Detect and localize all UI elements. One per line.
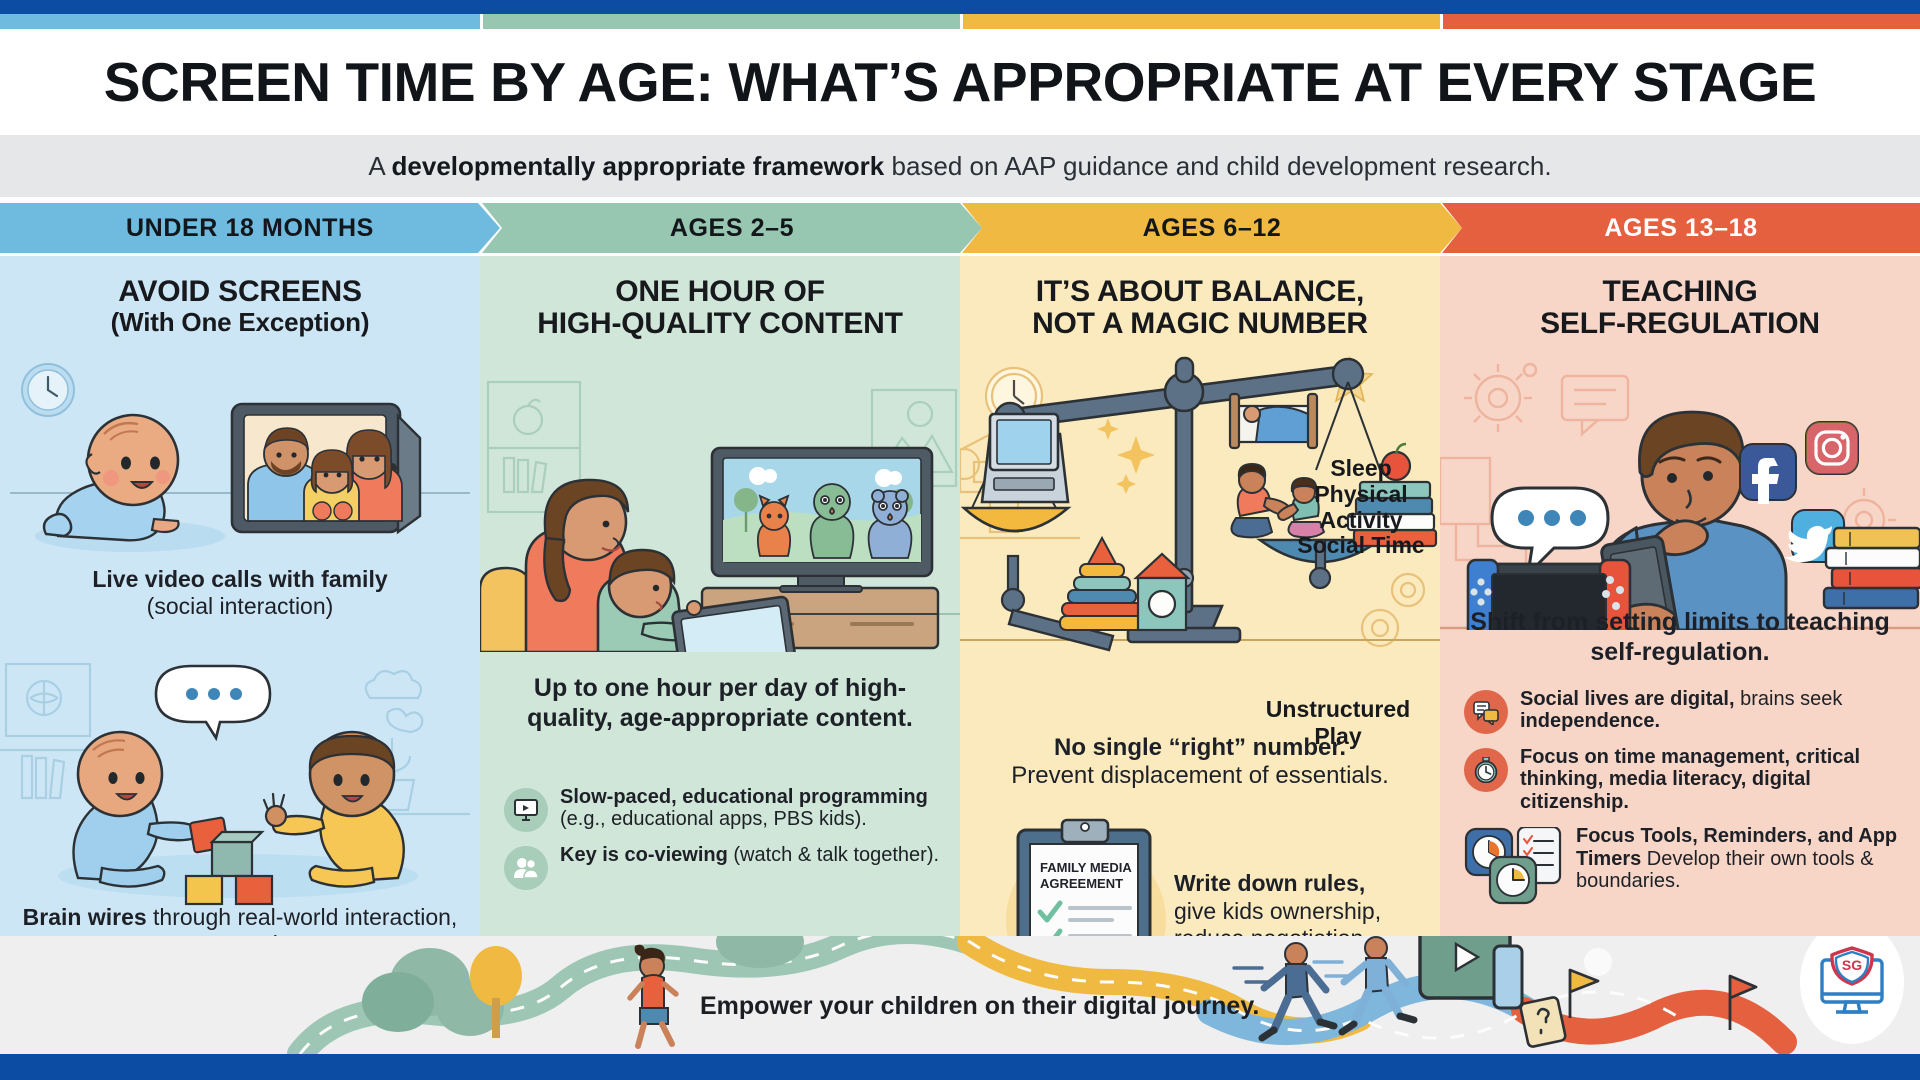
title-bar: SCREEN TIME BY AGE: WHAT’S APPROPRIATE A… xyxy=(0,29,1920,135)
page-subtitle: A developmentally appropriate framework … xyxy=(368,151,1551,182)
stage-title: IT’S ABOUT BALANCE, NOT A MAGIC NUMBER xyxy=(960,276,1440,341)
clipboard-title-line1: FAMILY MEDIA xyxy=(1040,860,1132,875)
list-item: Key is co-viewing (watch & talk together… xyxy=(504,844,940,890)
stage-title: TEACHING SELF-REGULATION xyxy=(1440,276,1920,341)
page-title-bold: SCREEN TIME BY AGE: xyxy=(104,51,714,113)
scale-labels-essentials: Sleep Physical Activity Social Time xyxy=(1286,456,1436,559)
stage-header-ages-6-12[interactable]: AGES 6–12 xyxy=(962,203,1462,253)
top-brand-band xyxy=(0,0,1920,14)
caption-bold: Live video calls with family xyxy=(92,566,387,592)
accent-stage-2 xyxy=(483,14,963,29)
footer-journey-band: Empower your children on their digital j… xyxy=(0,936,1920,1054)
stage-header-label: AGES 2–5 xyxy=(670,214,794,243)
list-item-rest: (watch & talk together). xyxy=(728,844,939,866)
stage-title-main: IT’S ABOUT BALANCE, xyxy=(1036,275,1364,308)
stage-blurb: No single “right” number. Prevent displa… xyxy=(960,734,1440,791)
illustration-babies-blocks xyxy=(0,638,480,908)
stage-title-main: TEACHING xyxy=(1602,275,1757,308)
stage-title-sub: SELF-REGULATION xyxy=(1452,308,1908,340)
stage-header-ages-2-5[interactable]: AGES 2–5 xyxy=(482,203,982,253)
footnote-bold: Brain wires xyxy=(23,904,147,930)
list-item: Focus on time management, critical think… xyxy=(1464,746,1900,813)
bottom-brand-band xyxy=(0,1054,1920,1080)
accent-stage-4 xyxy=(1443,14,1920,29)
clipboard-title-line2: AGREEMENT xyxy=(1040,876,1123,891)
stopwatch-icon xyxy=(1464,748,1508,792)
scale-label-physical: Physical xyxy=(1286,482,1436,508)
scale-label-social-time: Social Time xyxy=(1286,533,1436,559)
app-timer-icons xyxy=(1464,827,1564,905)
illustration-co-viewing xyxy=(480,352,960,652)
list-item-text: Slow-paced, educational programming (e.g… xyxy=(560,786,940,831)
list-item: Slow-paced, educational programming (e.g… xyxy=(504,786,940,832)
list-item-rest: (e.g., educational apps, PBS kids). xyxy=(560,808,867,830)
illustration-baby-tablet xyxy=(0,348,480,558)
page-title: SCREEN TIME BY AGE: WHAT’S APPROPRIATE A… xyxy=(104,50,1817,114)
list-item-bold: Focus on time management, critical think… xyxy=(1520,746,1860,813)
scale-label-activity: Activity xyxy=(1286,508,1436,534)
subtitle-bar: A developmentally appropriate framework … xyxy=(0,135,1920,197)
stage-header-under-18-months[interactable]: UNDER 18 MONTHS xyxy=(0,203,500,253)
stage-header-label: AGES 6–12 xyxy=(1143,214,1282,243)
stage-blurb-bold: No single “right” number. xyxy=(1054,734,1346,761)
accent-stage-1 xyxy=(0,14,483,29)
stage-caption: Live video calls with family (social int… xyxy=(0,566,480,620)
stage-title-main: ONE HOUR OF xyxy=(615,275,824,308)
two-people-icon xyxy=(504,846,548,890)
list-item-text: Key is co-viewing (watch & talk together… xyxy=(560,844,939,866)
accent-stage-3 xyxy=(963,14,1443,29)
list-item-bold-2: independence. xyxy=(1520,710,1660,732)
monitor-play-icon xyxy=(504,788,548,832)
stage-blurb-rest: Prevent displacement of essentials. xyxy=(1011,762,1389,789)
page-title-rest: WHAT’S APPROPRIATE AT EVERY STAGE xyxy=(713,51,1816,113)
chat-bubbles-icon xyxy=(1464,690,1508,734)
list-item: Focus Tools, Reminders, and App Timers D… xyxy=(1464,825,1900,905)
stage-header-ages-13-18[interactable]: AGES 13–18 xyxy=(1442,203,1920,253)
list-item: Social lives are digital, brains seek in… xyxy=(1464,688,1900,734)
stage-title-sub: NOT A MAGIC NUMBER xyxy=(972,308,1428,340)
subtitle-lead: A xyxy=(368,151,391,181)
stage-bullet-list: Social lives are digital, brains seek in… xyxy=(1464,688,1900,917)
stage-title-sub: (With One Exception) xyxy=(12,308,468,336)
stage-accent-strip xyxy=(0,14,1920,29)
infographic-root: SCREEN TIME BY AGE: WHAT’S APPROPRIATE A… xyxy=(0,0,1920,1080)
subtitle-bold: developmentally appropriate framework xyxy=(392,151,885,181)
subtitle-rest: based on AAP guidance and child developm… xyxy=(884,151,1551,181)
stage-title-sub: HIGH-QUALITY CONTENT xyxy=(492,308,948,340)
list-item-bold: Key is co-viewing xyxy=(560,844,728,866)
stage-headers: UNDER 18 MONTHS AGES 2–5 AGES 6–12 AGES … xyxy=(0,203,1920,253)
list-item-text: Social lives are digital, brains seek in… xyxy=(1520,688,1900,733)
stage-title-main: AVOID SCREENS xyxy=(118,275,362,308)
caption-sub: (social interaction) xyxy=(147,593,334,619)
illustration-teen-phone xyxy=(1440,350,1920,630)
list-item-bold: Social lives are digital, xyxy=(1520,688,1735,710)
stage-bullet-list: Slow-paced, educational programming (e.g… xyxy=(504,786,940,902)
list-item-text: Focus Tools, Reminders, and App Timers D… xyxy=(1576,825,1900,892)
list-item-text: Focus on time management, critical think… xyxy=(1520,746,1900,813)
monitor-shield-logo-icon: SG xyxy=(1812,942,1892,1022)
stage-title: AVOID SCREENS (With One Exception) xyxy=(0,276,480,336)
list-item-rest: brains seek xyxy=(1735,688,1843,710)
footer-tagline: Empower your children on their digital j… xyxy=(700,992,1259,1021)
stage-header-label: AGES 13–18 xyxy=(1604,214,1757,243)
logo-initials: SG xyxy=(1842,957,1862,973)
stage-title: ONE HOUR OF HIGH-QUALITY CONTENT xyxy=(480,276,960,341)
stage-blurb-text: Up to one hour per day of high-quality, … xyxy=(527,674,913,732)
stage-note-bold: Write down rules, xyxy=(1174,870,1365,896)
stage-blurb: Shift from setting limits to teaching se… xyxy=(1440,608,1920,667)
stage-header-label: UNDER 18 MONTHS xyxy=(126,214,374,243)
scale-label-sleep: Sleep xyxy=(1286,456,1436,482)
stage-blurb: Up to one hour per day of high-quality, … xyxy=(480,674,960,733)
stage-blurb-text: Shift from setting limits to teaching se… xyxy=(1470,608,1889,666)
list-item-bold: Slow-paced, educational programming xyxy=(560,786,928,808)
